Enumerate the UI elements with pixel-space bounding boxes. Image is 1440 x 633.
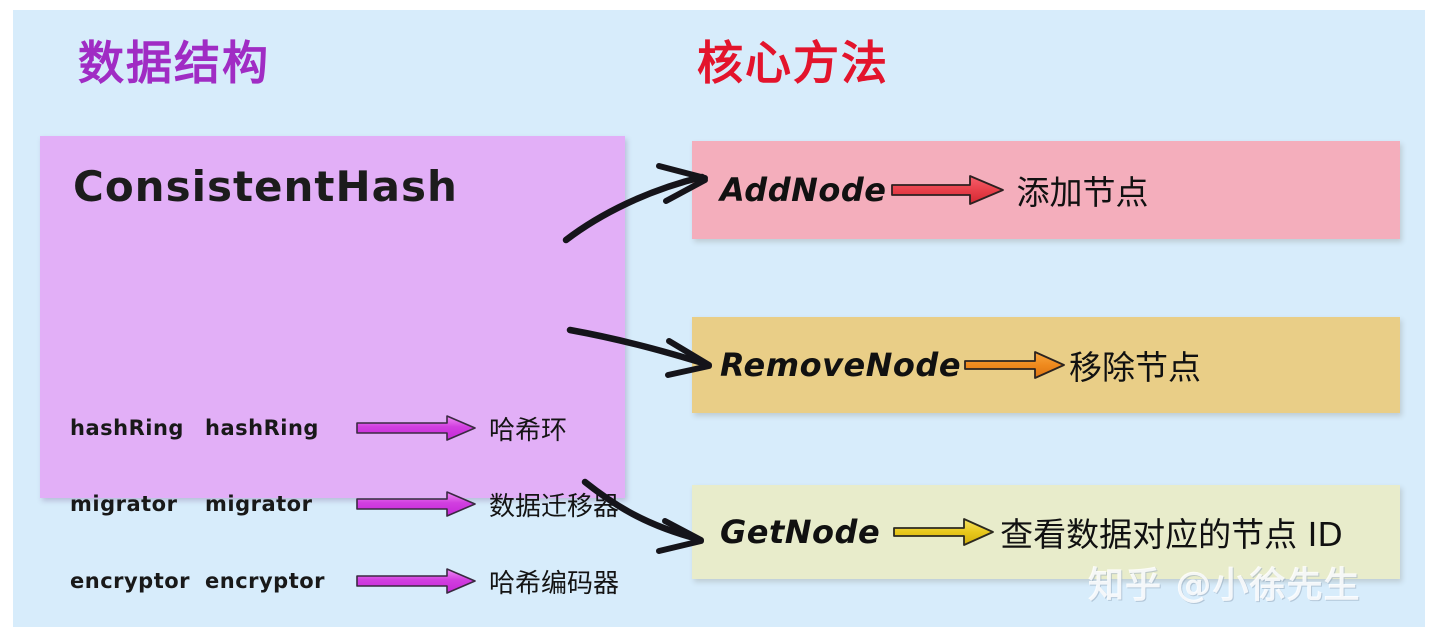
field-description: 数据迁移器	[489, 486, 619, 523]
field-type: hashRing	[205, 416, 355, 440]
method-box-removenode: RemoveNode 移除节点	[692, 317, 1400, 413]
method-box-addnode: AddNode 添加节点	[692, 141, 1400, 239]
diagram-canvas: 数据结构 核心方法 ConsistentHash hashRing hashRi…	[0, 0, 1440, 633]
method-name: AddNode	[720, 171, 886, 209]
field-description: 哈希环	[489, 410, 567, 447]
section-title-core-methods: 核心方法	[697, 40, 889, 86]
field-name: encryptor	[70, 569, 205, 593]
field-name: hashRing	[70, 416, 205, 440]
method-arrow-icon	[890, 173, 1006, 207]
struct-box-consistenthash: ConsistentHash hashRing hashRing 哈希环	[40, 136, 625, 498]
method-description: 查看数据对应的节点 ID	[1000, 508, 1343, 556]
method-arrow-icon	[963, 348, 1067, 382]
method-description: 添加节点	[1016, 166, 1148, 214]
method-content: GetNode 查看数据对应的节点 ID	[720, 508, 1343, 556]
method-arrow-icon	[892, 515, 996, 549]
method-description: 移除节点	[1069, 341, 1201, 389]
method-content: RemoveNode 移除节点	[720, 341, 1201, 389]
watermark: 知乎 @小徐先生	[1088, 556, 1361, 608]
field-arrow-icon	[355, 491, 477, 517]
method-name: GetNode	[720, 513, 880, 551]
section-title-data-structure: 数据结构	[78, 40, 270, 86]
field-type: encryptor	[205, 569, 355, 593]
method-name: RemoveNode	[720, 346, 961, 384]
struct-field-row: encryptor encryptor 哈希编码器	[70, 561, 630, 601]
struct-field-row: hashRing hashRing 哈希环	[70, 408, 630, 448]
method-content: AddNode 添加节点	[720, 166, 1148, 214]
field-arrow-icon	[355, 415, 477, 441]
struct-field-row: migrator migrator 数据迁移器	[70, 484, 630, 524]
field-type: migrator	[205, 492, 355, 516]
field-arrow-icon	[355, 568, 477, 594]
struct-name: ConsistentHash	[73, 162, 458, 211]
field-description: 哈希编码器	[489, 563, 619, 600]
field-name: migrator	[70, 492, 205, 516]
